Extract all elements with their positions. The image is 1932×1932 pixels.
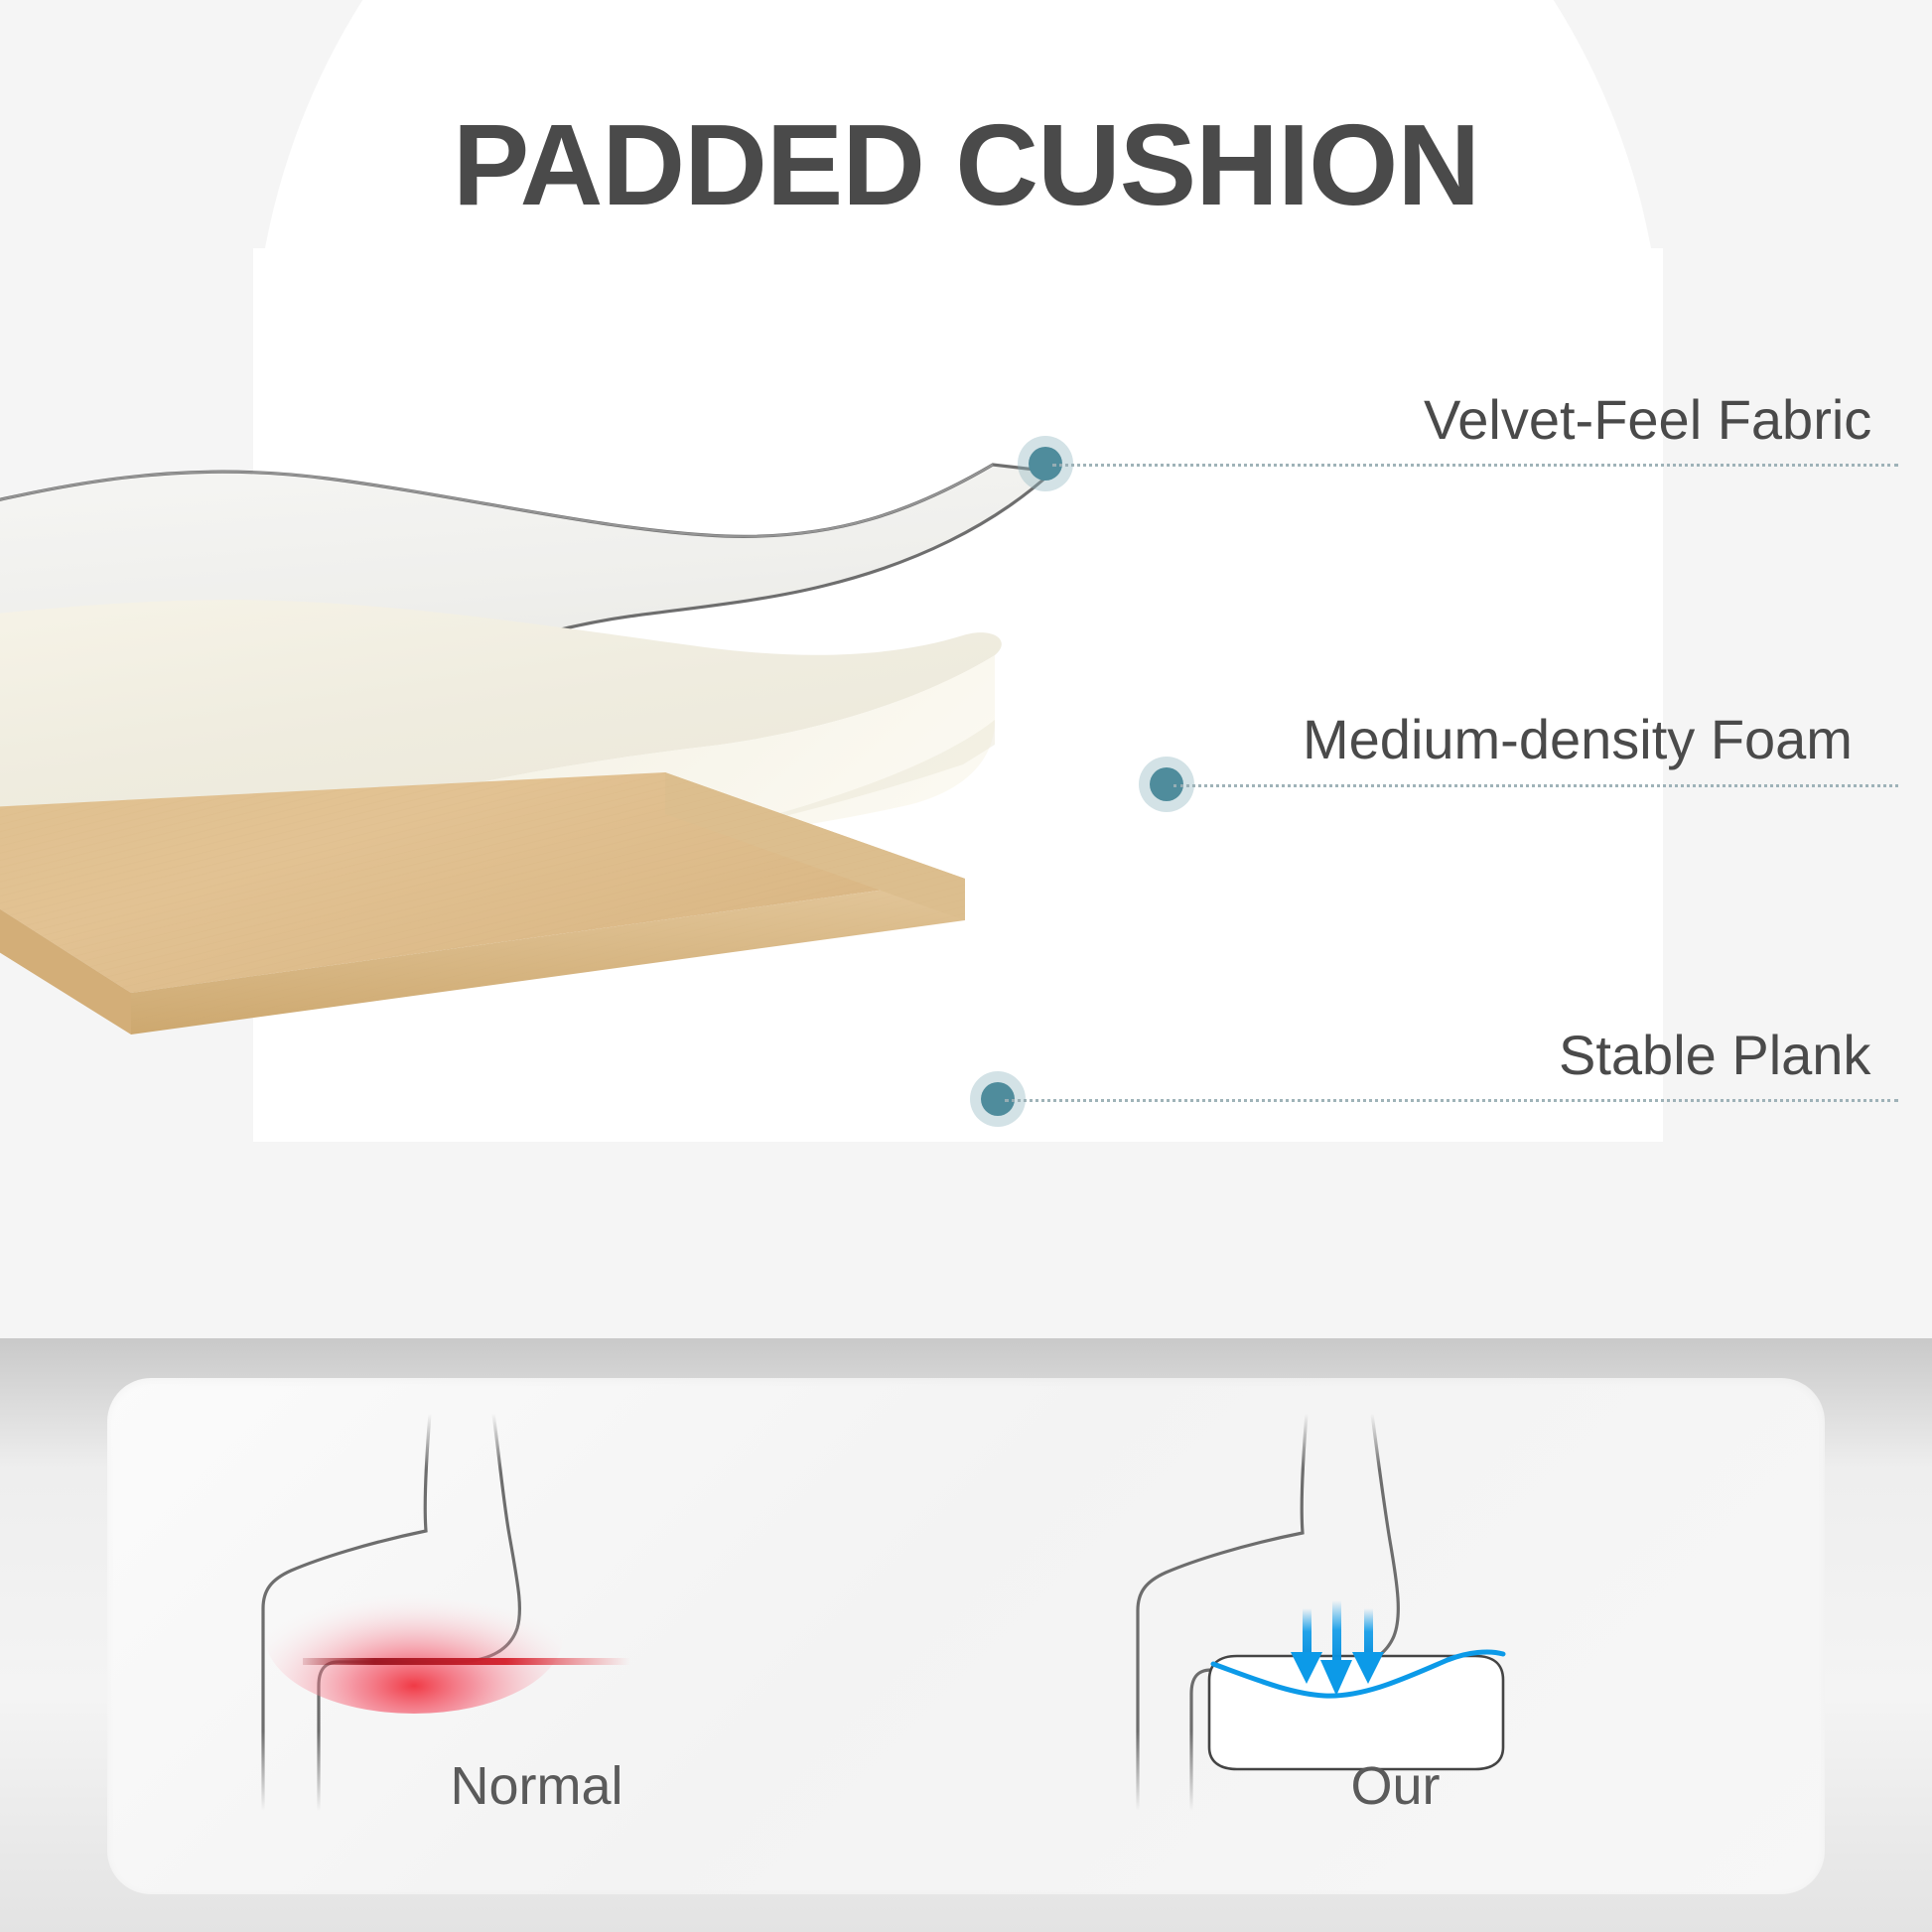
comparison-label-normal: Normal [107,1755,966,1817]
comparison-card: Normal [107,1378,1825,1894]
leader-line-fabric [1052,464,1898,467]
comparison-label-our: Our [966,1755,1825,1817]
page-title: PADDED CUSHION [0,107,1932,222]
layer-label-plank: Stable Plank [1559,1023,1870,1087]
layer-label-fabric: Velvet-Feel Fabric [1424,387,1871,452]
comparison-our: Our [966,1378,1825,1894]
our-cushion-illustration [1078,1414,1714,1811]
normal-posture-illustration [219,1414,855,1811]
exploded-layers-illustration [0,298,1082,1112]
comparison-normal: Normal [107,1378,966,1894]
leader-line-plank [1005,1099,1898,1102]
comparison-section: Normal [0,1338,1932,1932]
infographic-page: PADDED CUSHION [0,0,1932,1932]
product-layers-section: PADDED CUSHION [0,0,1932,1338]
leader-line-foam [1173,784,1898,787]
layer-label-foam: Medium-density Foam [1303,707,1853,771]
